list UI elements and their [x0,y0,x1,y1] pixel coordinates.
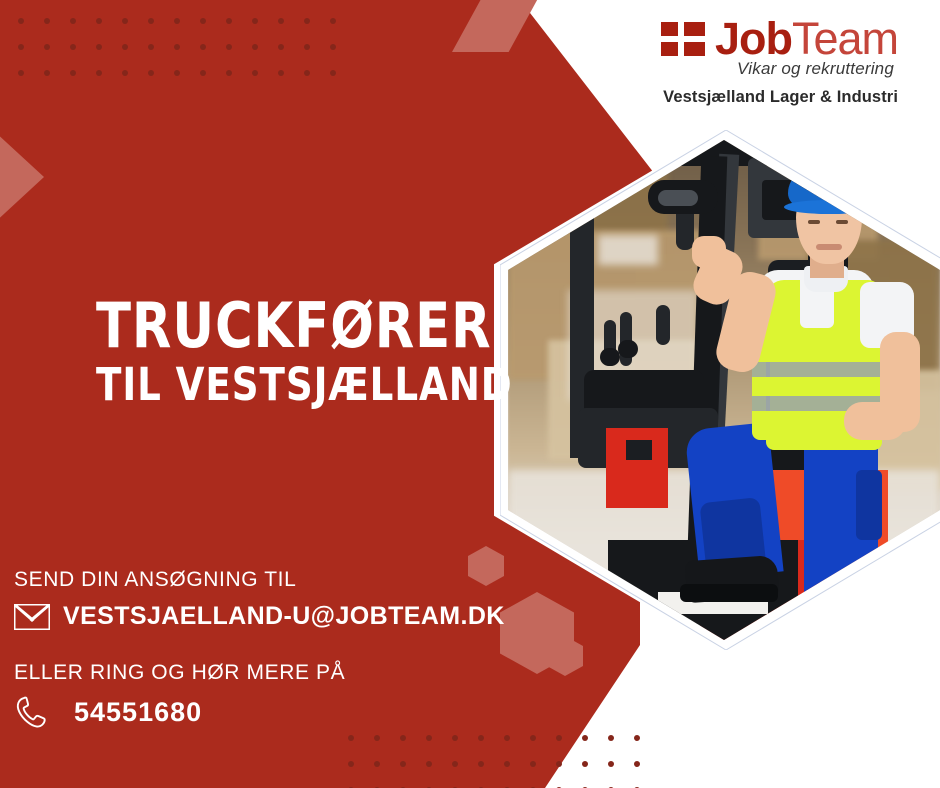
email-address[interactable]: VESTSJAELLAND-U@JOBTEAM.DK [63,602,505,631]
decorative-dot [634,761,640,767]
logo-word-team: Team [792,13,898,64]
danish-flag-icon [661,22,705,56]
decorative-dot [582,735,588,741]
job-advert-poster: JobTeam Vikar og rekruttering Vestsjælla… [0,0,940,788]
logo-subtitle: Vestsjælland Lager & Industri [578,88,898,107]
contact-spacer [14,631,534,661]
email-label: SEND DIN ANSØGNING TIL [14,568,534,592]
envelope-icon [14,604,50,630]
headline-line-2: TIL VESTSJÆLLAND [96,362,513,407]
contact-block: SEND DIN ANSØGNING TIL VESTSJAELLAND-U@J… [14,568,534,729]
phone-icon [14,695,48,729]
headline-line-1: TRUCKFØRER [96,296,513,356]
decorative-dot [634,735,640,741]
phone-row[interactable]: 54551680 [14,695,534,729]
headline: TRUCKFØRER TIL VESTSJÆLLAND [96,296,549,407]
email-row[interactable]: VESTSJAELLAND-U@JOBTEAM.DK [14,602,534,631]
jobteam-logo: JobTeam Vikar og rekruttering Vestsjælla… [578,16,898,107]
decorative-dot [608,735,614,741]
logo-wordmark: JobTeam [715,16,898,61]
logo-tagline: Vikar og rekruttering [578,59,898,79]
logo-word-job: Job [715,13,792,64]
decorative-dot [608,761,614,767]
phone-label: ELLER RING OG HØR MERE PÅ [14,661,534,685]
decorative-dot [582,761,588,767]
phone-number[interactable]: 54551680 [74,697,202,728]
